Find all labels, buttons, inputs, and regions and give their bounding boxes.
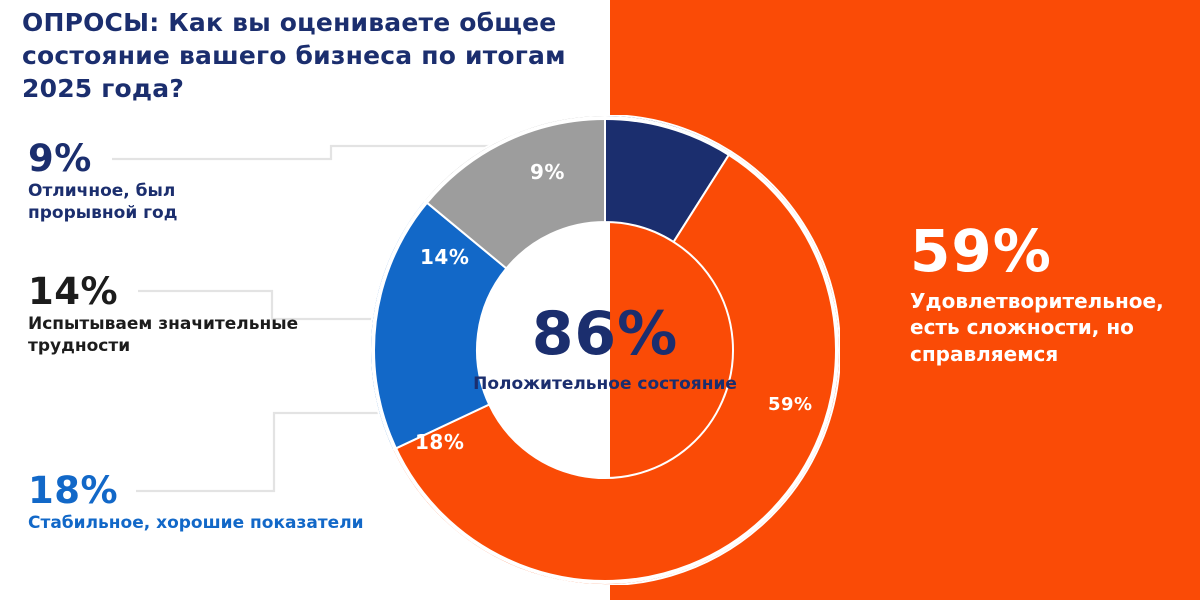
slice-label-gray: 14% (420, 245, 469, 269)
callout-label-9: Отличное, был прорывной год (28, 181, 268, 225)
callout-label-18: Стабильное, хорошие показатели (28, 513, 408, 535)
right-panel-percent: 59% (910, 222, 1190, 280)
callout-percent-18: 18% (28, 472, 408, 509)
right-panel-content: 59% Удовлетворительное, есть сложности, … (910, 222, 1190, 367)
donut-svg (370, 115, 840, 585)
slice-label-navy: 9% (530, 160, 565, 184)
callout-difficulties: 14% Испытываем значительные трудности (28, 273, 328, 358)
infographic-canvas: 59% Удовлетворительное, есть сложности, … (0, 0, 1200, 600)
slice-label-blue: 18% (415, 430, 464, 454)
callout-excellent: 9% Отличное, был прорывной год (28, 140, 268, 225)
slice-label-orange: 59% (768, 394, 813, 415)
callout-label-14: Испытываем значительные трудности (28, 314, 328, 358)
right-panel-label: Удовлетворительное, есть сложности, но с… (910, 288, 1190, 367)
page-title: ОПРОСЫ: Как вы оцениваете общее состояни… (22, 6, 602, 105)
donut-chart: 86% Положительное состояние (370, 115, 840, 585)
callout-percent-9: 9% (28, 140, 268, 177)
callout-percent-14: 14% (28, 273, 328, 310)
callout-stable: 18% Стабильное, хорошие показатели (28, 472, 408, 535)
